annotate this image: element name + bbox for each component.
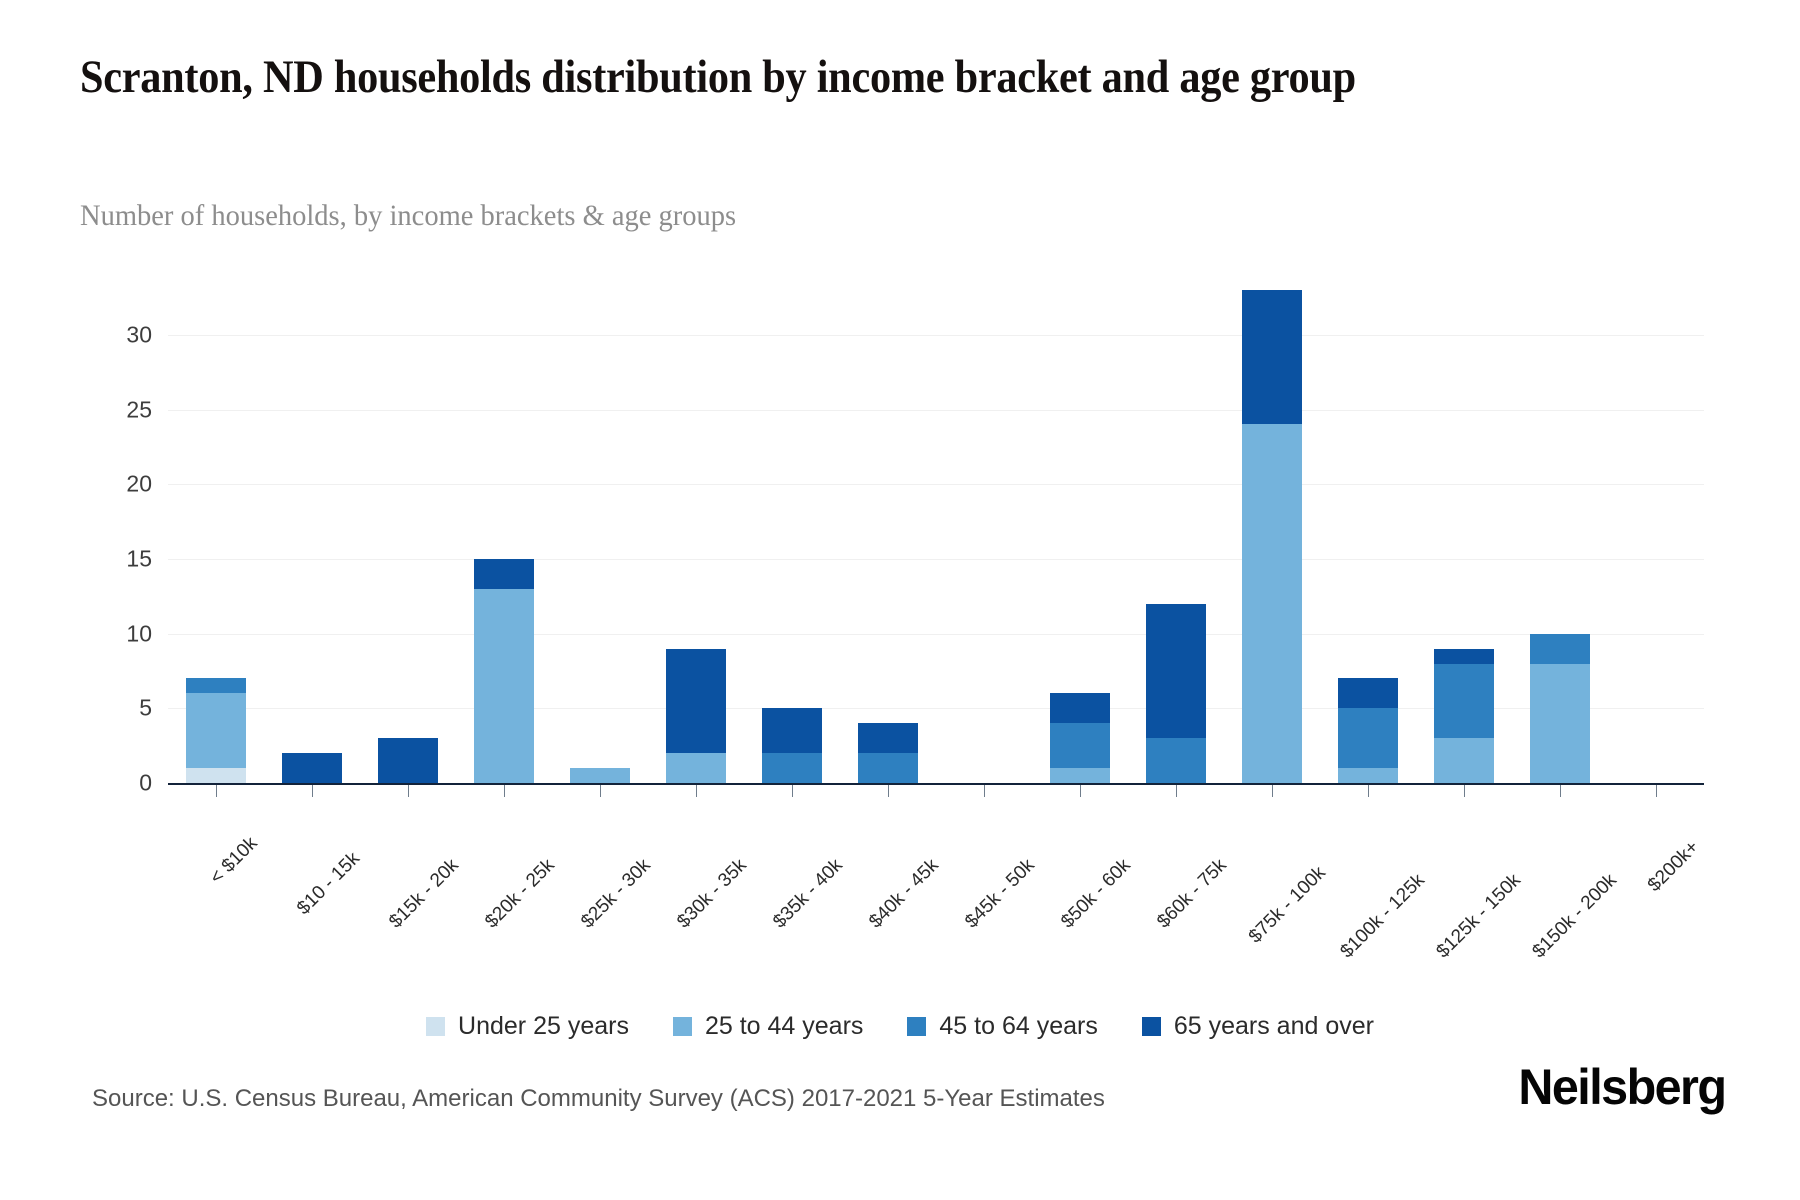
bar-segment[interactable] [186, 693, 246, 768]
bar-segment[interactable] [186, 768, 246, 783]
bar-slot[interactable] [264, 290, 360, 783]
bar-stack[interactable] [1434, 649, 1494, 783]
x-axis-label-wrap: $30k - 35k [726, 802, 804, 880]
bar-segment[interactable] [570, 768, 630, 783]
y-axis-tick-label: 20 [82, 471, 152, 498]
legend-label: 65 years and over [1174, 1012, 1374, 1041]
bar-stack[interactable] [570, 768, 630, 783]
x-axis-tick-mark [984, 785, 985, 797]
x-axis-tick-mark [1368, 785, 1369, 797]
bar-stack[interactable] [762, 708, 822, 783]
bar-slot[interactable] [840, 290, 936, 783]
x-axis-tick-label: $100k - 125k [1336, 870, 1429, 963]
legend-label: 45 to 64 years [939, 1012, 1097, 1041]
y-axis-tick-label: 25 [82, 396, 152, 423]
bar-segment[interactable] [186, 678, 246, 693]
bar-stack[interactable] [1050, 693, 1110, 783]
x-axis-tick-mark [1176, 785, 1177, 797]
x-axis-tick-label: $150k - 200k [1528, 870, 1621, 963]
x-axis-label-wrap: $45k - 50k [1014, 802, 1092, 880]
y-axis-tick-label: 10 [82, 620, 152, 647]
x-axis-tick-mark [1656, 785, 1657, 797]
page-title: Scranton, ND households distribution by … [80, 48, 1484, 107]
page-subtitle: Number of households, by income brackets… [80, 198, 1410, 234]
bar-stack[interactable] [186, 678, 246, 783]
bar-slot[interactable] [744, 290, 840, 783]
x-axis-line [168, 783, 1704, 785]
bar-slot[interactable] [1032, 290, 1128, 783]
legend-label: Under 25 years [458, 1012, 629, 1041]
neilsberg-logo: Neilsberg [1518, 1058, 1725, 1116]
bar-segment[interactable] [1434, 664, 1494, 739]
x-axis-label-wrap: $20k - 25k [534, 802, 612, 880]
bar-stack[interactable] [378, 738, 438, 783]
bar-segment[interactable] [378, 738, 438, 783]
x-axis-tick-label: $25k - 30k [577, 855, 655, 933]
legend-swatch-icon [1142, 1017, 1161, 1036]
bar-stack[interactable] [1146, 604, 1206, 783]
x-axis-label-wrap: $60k - 75k [1206, 802, 1284, 880]
source-note: Source: U.S. Census Bureau, American Com… [92, 1085, 1105, 1113]
legend-item[interactable]: 45 to 64 years [907, 1012, 1097, 1041]
bar-segment[interactable] [858, 723, 918, 753]
bar-segment[interactable] [1242, 424, 1302, 783]
bar-segment[interactable] [1050, 723, 1110, 768]
legend-label: 25 to 44 years [705, 1012, 863, 1041]
bar-slot[interactable] [552, 290, 648, 783]
x-axis-tick-mark [792, 785, 793, 797]
x-axis-label-wrap: $200k+ [1678, 802, 1738, 862]
x-axis-tick-label: $20k - 25k [481, 855, 559, 933]
legend-swatch-icon [673, 1017, 692, 1036]
x-axis-tick-label: $10 - 15k [293, 848, 365, 920]
legend-swatch-icon [907, 1017, 926, 1036]
y-axis-tick-label: 0 [82, 770, 152, 797]
bar-slot[interactable] [936, 290, 1032, 783]
bar-slot[interactable] [1320, 290, 1416, 783]
bar-slot[interactable] [1224, 290, 1320, 783]
bar-stack[interactable] [666, 649, 726, 783]
x-axis-tick-mark [1272, 785, 1273, 797]
x-axis-tick-label: $45k - 50k [961, 855, 1039, 933]
bar-slot[interactable] [168, 290, 264, 783]
bar-stack[interactable] [1338, 678, 1398, 783]
x-axis-tick-label: $50k - 60k [1057, 855, 1135, 933]
bar-stack[interactable] [282, 753, 342, 783]
bar-segment[interactable] [474, 559, 534, 589]
x-axis-tick-mark [408, 785, 409, 797]
x-axis-tick-label: $60k - 75k [1153, 855, 1231, 933]
bar-segment[interactable] [1338, 768, 1398, 783]
legend-item[interactable]: 25 to 44 years [673, 1012, 863, 1041]
x-axis-tick-label: $30k - 35k [673, 855, 751, 933]
bar-segment[interactable] [666, 753, 726, 783]
x-axis-label-wrap: $125k - 150k [1500, 802, 1593, 895]
chart-legend: Under 25 years25 to 44 years45 to 64 yea… [0, 1012, 1800, 1041]
bar-segment[interactable] [1530, 634, 1590, 664]
bar-stack[interactable] [474, 559, 534, 783]
x-axis-label-wrap: $40k - 45k [918, 802, 996, 880]
y-axis-tick-label: 15 [82, 545, 152, 572]
bar-slot[interactable] [456, 290, 552, 783]
x-axis-tick-label: $15k - 20k [385, 855, 463, 933]
x-axis-tick-label: < $10k [206, 833, 262, 889]
x-axis-label-wrap: $25k - 30k [630, 802, 708, 880]
bar-slot[interactable] [648, 290, 744, 783]
bar-slot[interactable] [1416, 290, 1512, 783]
x-axis-label-wrap: $75k - 100k [1305, 802, 1391, 888]
x-axis-tick-mark [1080, 785, 1081, 797]
legend-item[interactable]: 65 years and over [1142, 1012, 1374, 1041]
x-axis-tick-mark [312, 785, 313, 797]
bar-segment[interactable] [858, 753, 918, 783]
bar-slot[interactable] [1608, 290, 1704, 783]
bar-segment[interactable] [1338, 708, 1398, 768]
x-axis-tick-mark [1560, 785, 1561, 797]
x-axis-tick-mark [216, 785, 217, 797]
plot-area [168, 290, 1704, 783]
chart-page: Scranton, ND households distribution by … [0, 0, 1800, 1200]
bar-slot[interactable] [1512, 290, 1608, 783]
legend-item[interactable]: Under 25 years [426, 1012, 629, 1041]
x-axis-tick-label: $35k - 40k [769, 855, 847, 933]
bar-segment[interactable] [1434, 649, 1494, 664]
bar-segment[interactable] [762, 753, 822, 783]
x-axis-tick-mark [504, 785, 505, 797]
bar-stack[interactable] [1242, 290, 1302, 783]
bar-stack[interactable] [858, 723, 918, 783]
x-axis-tick-label: $75k - 100k [1245, 862, 1331, 948]
bar-segment[interactable] [474, 589, 534, 783]
x-axis-tick-mark [888, 785, 889, 797]
bar-slot[interactable] [1128, 290, 1224, 783]
bar-segment[interactable] [1146, 604, 1206, 738]
y-axis-tick-label: 5 [82, 695, 152, 722]
bar-segment[interactable] [762, 708, 822, 753]
bar-segment[interactable] [1050, 693, 1110, 723]
x-axis-label-wrap: $35k - 40k [822, 802, 900, 880]
x-axis-label-wrap: $15k - 20k [438, 802, 516, 880]
bar-segment[interactable] [1050, 768, 1110, 783]
legend-swatch-icon [426, 1017, 445, 1036]
x-axis-tick-label: $125k - 150k [1432, 870, 1525, 963]
bar-segment[interactable] [1338, 678, 1398, 708]
x-axis-label-wrap: $10 - 15k [339, 802, 411, 874]
bar-slot[interactable] [360, 290, 456, 783]
y-axis-tick-label: 30 [82, 321, 152, 348]
bar-segment[interactable] [1146, 738, 1206, 783]
x-axis-label-wrap: $50k - 60k [1110, 802, 1188, 880]
bar-segment[interactable] [1434, 738, 1494, 783]
x-axis-tick-mark [1464, 785, 1465, 797]
bar-segment[interactable] [282, 753, 342, 783]
bar-segment[interactable] [1530, 664, 1590, 784]
bar-segment[interactable] [666, 649, 726, 754]
x-axis-tick-label: $40k - 45k [865, 855, 943, 933]
bar-stack[interactable] [1530, 634, 1590, 783]
x-axis-label-wrap: $100k - 125k [1404, 802, 1497, 895]
x-axis-label-wrap: < $10k [237, 802, 293, 858]
x-axis-tick-mark [600, 785, 601, 797]
bar-segment[interactable] [1242, 290, 1302, 424]
x-axis-tick-mark [696, 785, 697, 797]
